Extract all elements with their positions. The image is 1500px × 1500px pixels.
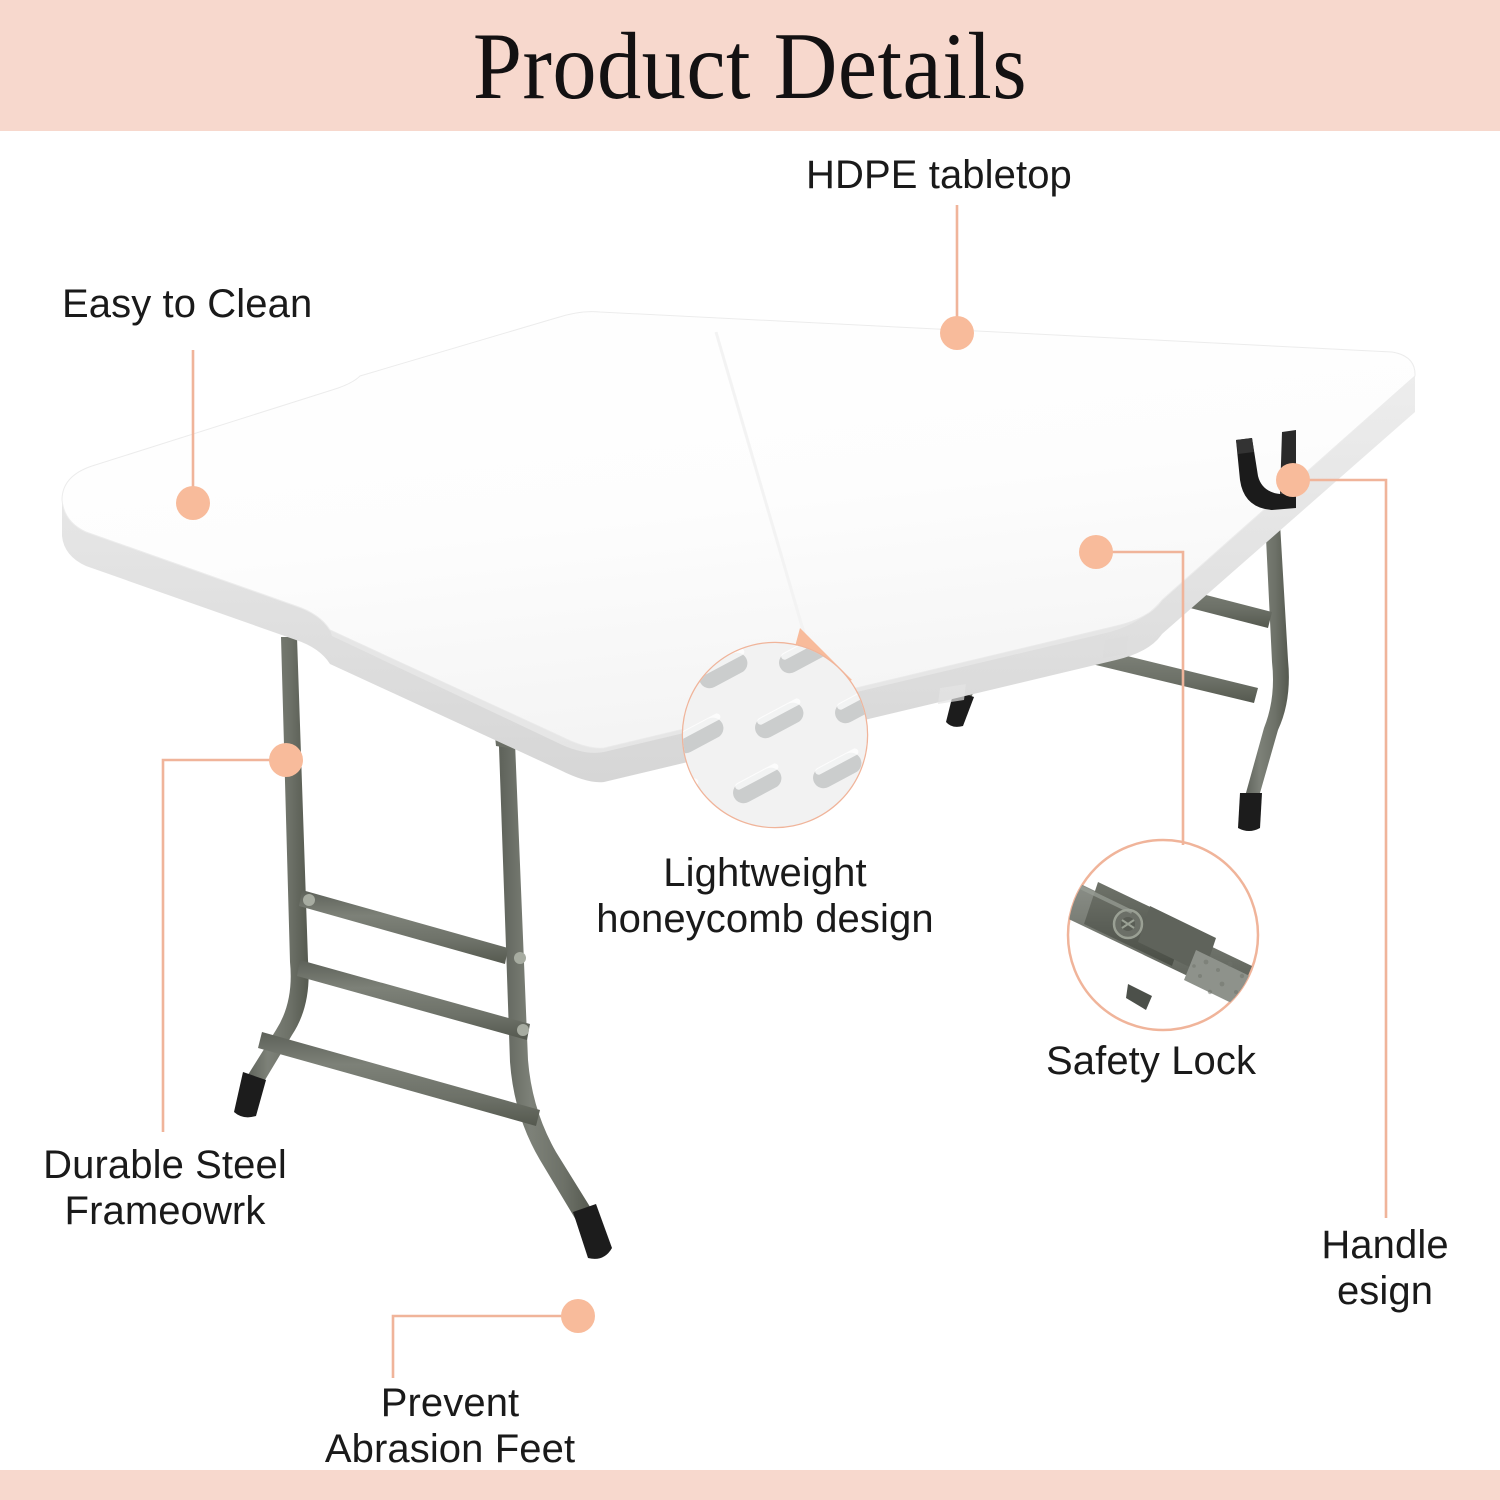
foot-cap-left: [234, 1072, 266, 1117]
foot-cap-center: [573, 1204, 612, 1259]
connector-prevent-abrasion-feet: [393, 1316, 568, 1378]
dot-durable-steel: [269, 743, 303, 777]
label-safety-lock: Safety Lock: [1046, 1038, 1256, 1084]
label-hdpe-tabletop: HDPE tabletop: [806, 152, 1072, 198]
safety-lock-closeup-detail: [1054, 840, 1262, 1030]
product-illustration: [0, 0, 1500, 1500]
dot-safety-lock: [1079, 535, 1113, 569]
dot-handle-design: [1276, 463, 1310, 497]
connector-handle-design: [1303, 480, 1386, 1218]
dot-hdpe-tabletop: [940, 316, 974, 350]
label-handle-design: Handle esign: [1280, 1222, 1490, 1314]
label-prevent-abrasion-feet: Prevent Abrasion Feet: [300, 1380, 600, 1472]
infographic-canvas: Product Details: [0, 0, 1500, 1500]
label-lightweight-honeycomb: Lightweight honeycomb design: [540, 850, 990, 942]
dot-easy-to-clean: [176, 486, 210, 520]
label-easy-to-clean: Easy to Clean: [62, 281, 312, 327]
label-durable-steel-framework: Durable Steel Frameowrk: [10, 1142, 320, 1234]
dot-prevent-abrasion-feet: [561, 1299, 595, 1333]
